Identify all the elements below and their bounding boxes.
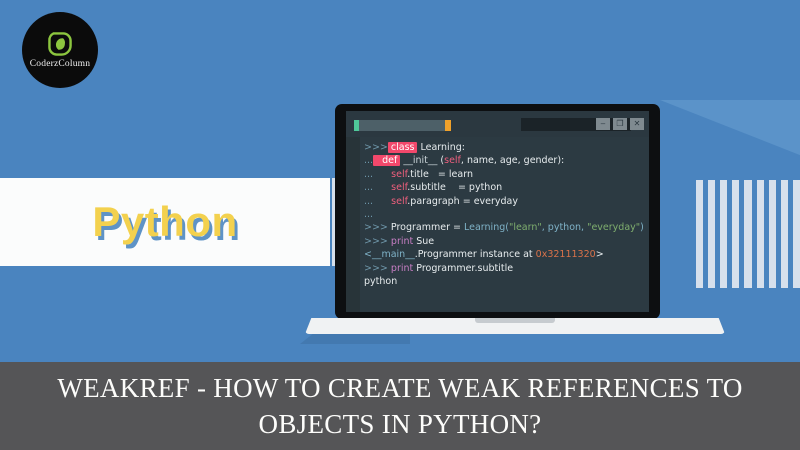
terminal-code: >>>class Learning:... def __init__ (self… xyxy=(364,141,649,288)
right-stripes xyxy=(696,180,800,288)
laptop-trackpad-notch xyxy=(475,318,555,323)
code-prompt: >>> xyxy=(364,263,388,274)
code-token: 0x32111320 xyxy=(536,249,596,260)
code-line: <__main__.Programmer instance at 0x32111… xyxy=(364,248,649,261)
code-token: <__main__ xyxy=(364,249,415,260)
minimize-button[interactable]: – xyxy=(596,118,610,130)
code-token: class xyxy=(388,142,418,153)
code-prompt: ... xyxy=(364,155,373,166)
code-line: >>> print Sue xyxy=(364,235,649,248)
code-line: >>> Programmer = Learning("learn", pytho… xyxy=(364,221,649,234)
code-token: , name, age, gender): xyxy=(461,155,564,166)
code-token: Learning: xyxy=(417,142,464,153)
code-line: ... self.paragraph = everyday xyxy=(364,195,649,208)
code-token: .Programmer instance at xyxy=(415,249,536,260)
code-token: self xyxy=(373,196,407,207)
code-prompt: ... xyxy=(364,182,373,193)
code-line: ... def __init__ (self, name, age, gende… xyxy=(364,154,649,167)
tab-end-marker xyxy=(445,120,451,131)
code-prompt: >>> xyxy=(364,236,388,247)
code-token: .title = learn xyxy=(407,169,473,180)
code-token: .subtitle = python xyxy=(407,182,502,193)
article-title: WEAKREF - HOW TO CREATE WEAK REFERENCES … xyxy=(20,370,780,442)
code-line: ... self.title = learn xyxy=(364,168,649,181)
code-line: >>>class Learning: xyxy=(364,141,649,154)
code-token: .paragraph = everyday xyxy=(407,196,518,207)
code-line: >>> print Programmer.subtitle xyxy=(364,262,649,275)
brand-logo: CoderzColumn xyxy=(22,12,98,88)
code-token: self xyxy=(444,155,461,166)
code-line: python xyxy=(364,275,649,288)
code-token: Programmer.subtitle xyxy=(413,263,513,274)
code-token: "learn" xyxy=(509,222,542,233)
terminal-gutter xyxy=(346,137,360,312)
code-prompt: >>> xyxy=(364,142,388,153)
terminal-titlebar: – ❐ ✕ xyxy=(346,111,649,137)
code-token: print xyxy=(388,236,413,247)
window-controls[interactable]: – ❐ ✕ xyxy=(596,118,644,130)
code-line: ... xyxy=(364,208,649,221)
code-token: , python, xyxy=(542,222,587,233)
code-token: self xyxy=(373,169,407,180)
code-token: "everyday" xyxy=(587,222,640,233)
leaf-droplet-icon xyxy=(47,31,73,57)
code-token: python xyxy=(364,276,397,287)
close-button[interactable]: ✕ xyxy=(630,118,644,130)
code-token: ) xyxy=(640,222,644,233)
code-prompt: ... xyxy=(364,196,373,207)
code-token: Sue xyxy=(413,236,434,247)
title-banner: WEAKREF - HOW TO CREATE WEAK REFERENCES … xyxy=(0,362,800,450)
code-line: ... self.subtitle = python xyxy=(364,181,649,194)
laptop-screen: – ❐ ✕ >>>class Learning:... def __init__… xyxy=(346,111,649,312)
maximize-button[interactable]: ❐ xyxy=(613,118,627,130)
laptop: – ❐ ✕ >>>class Learning:... def __init__… xyxy=(335,104,660,319)
code-token: > xyxy=(596,249,604,260)
tab-body xyxy=(359,120,445,131)
python-label: Python xyxy=(0,178,330,266)
code-token: self xyxy=(373,182,407,193)
slide-canvas: CoderzColumn Python – ❐ ✕ xyxy=(0,0,800,450)
code-prompt: >>> xyxy=(364,222,388,233)
code-token: __init__ xyxy=(400,155,440,166)
code-prompt: ... xyxy=(364,169,373,180)
brand-name: CoderzColumn xyxy=(30,60,90,70)
code-token: Programmer = xyxy=(388,222,464,233)
code-token: def xyxy=(373,155,400,166)
editor-tab[interactable] xyxy=(354,120,451,131)
code-prompt: ... xyxy=(364,209,373,220)
code-token: print xyxy=(388,263,413,274)
code-token: Learning( xyxy=(464,222,509,233)
